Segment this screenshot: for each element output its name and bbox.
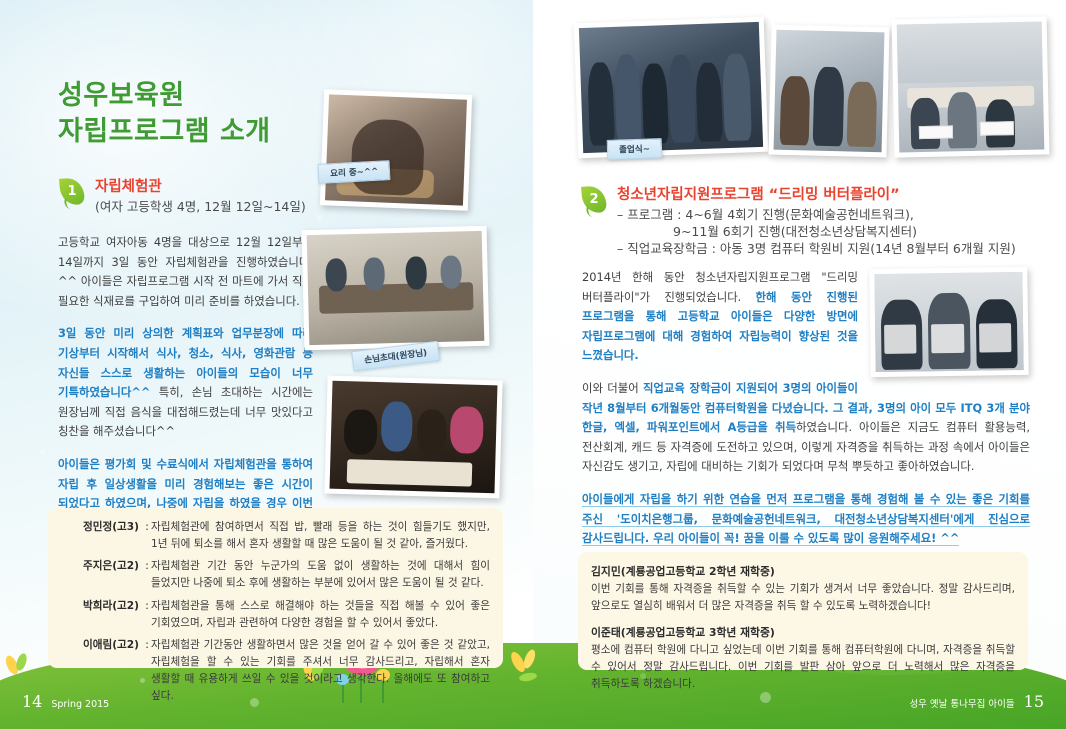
- photo-certificates-image: [874, 272, 1023, 372]
- flower-decoration-3: [505, 635, 555, 685]
- right-paragraph-2: 이와 더불어 직업교육 장학금이 지원되어 3명의 아이들이 작년 8월부터 6…: [582, 379, 1030, 477]
- right-paragraph-2-plain: 이와 더불어: [582, 381, 643, 395]
- grass-dot: [760, 692, 771, 703]
- quote-text: 자립체험관에 참여하면서 직접 밥, 빨래 등을 하는 것이 힘들기도 했지만,…: [151, 519, 490, 552]
- photo-study-image: [330, 381, 498, 494]
- quote-name: 정민정(고3): [61, 519, 143, 552]
- right-quote-box: 김지민(계룡공업고등학교 2학년 재학중) 이번 기회를 통해 자격증을 취득할…: [578, 552, 1028, 670]
- quote-row: 박희라(고2) : 자립체험관을 통해 스스로 해결해야 하는 것들을 직접 해…: [61, 598, 490, 631]
- photo-classroom: [892, 16, 1050, 157]
- photo-graduation-group-image: [579, 22, 763, 153]
- caption-graduation: 졸업식~: [607, 138, 663, 160]
- photo-cooking: [320, 89, 472, 211]
- right-float-photo-wrap: [870, 268, 1030, 376]
- flower-decoration-4: [5, 641, 49, 685]
- right-quote-text: 평소에 컴퓨터 학원에 다니고 싶었는데 이번 기회를 통해 컴퓨터학원에 다니…: [591, 642, 1015, 693]
- quote-row: 정민정(고3) : 자립체험관에 참여하면서 직접 밥, 빨래 등을 하는 것이…: [61, 519, 490, 552]
- footer-right: 성우 옛날 통나무집 아이들 15: [909, 692, 1044, 711]
- section-2-title: 청소년자립지원프로그램 “드리밍 버터플라이”: [617, 186, 1016, 204]
- right-quote-block: 김지민(계룡공업고등학교 2학년 재학중) 이번 기회를 통해 자격증을 취득할…: [591, 563, 1015, 615]
- right-quote-text: 이번 기회를 통해 자격증을 취득할 수 있는 기회가 생겨서 너무 좋았습니다…: [591, 581, 1015, 615]
- quote-separator: :: [143, 637, 151, 704]
- section-2-subtitle-line-1: – 프로그램 : 4~6월 4회기 진행(문화예술공헌네트워크),: [617, 207, 1016, 224]
- right-body-text: 2014년 한해 동안 청소년자립지원프로그램 "드리밍 버터플라이"가 진행되…: [582, 268, 1030, 549]
- right-quote-block: 이준태(계룡공업고등학교 3학년 재학중) 평소에 컴퓨터 학원에 다니고 싶었…: [591, 624, 1015, 693]
- page-number-left: 14: [22, 692, 42, 711]
- section-1-title: 자립체험관: [95, 178, 306, 196]
- right-quote-name: 이준태(계룡공업고등학교 3학년 재학중): [591, 624, 1015, 640]
- page-title-line1: 성우보육원: [58, 80, 185, 111]
- right-paragraph-3: 아이들에게 자립을 하기 위한 연습을 먼저 프로그램을 통해 경험해 볼 수 …: [582, 490, 1030, 549]
- page-title: 성우보육원 자립프로그램 소개: [58, 78, 271, 149]
- quote-text: 자립체험관을 통해 스스로 해결해야 하는 것들을 직접 해볼 수 있어 좋은 …: [151, 598, 490, 631]
- section-1-subtitle-line: (여자 고등학생 4명, 12월 12일~14일): [95, 199, 306, 216]
- section-1-subtitle: (여자 고등학생 4명, 12월 12일~14일): [95, 199, 306, 216]
- quote-separator: :: [143, 598, 151, 631]
- section-2-header: 2 청소년자립지원프로그램 “드리밍 버터플라이” – 프로그램 : 4~6월 …: [582, 186, 1032, 258]
- photo-graduation-group: [574, 17, 769, 159]
- footer-right-text: 성우 옛날 통나무집 아이들: [909, 696, 1014, 710]
- caption-cooking: 요리 중~^^: [318, 160, 391, 184]
- quote-separator: :: [143, 558, 151, 591]
- quote-name: 박희라(고2): [61, 598, 143, 631]
- quote-text: 자립체험관 기간동안 생활하면서 많은 것을 얻어 갈 수 있어 좋은 것 같았…: [151, 637, 490, 704]
- photo-group-meal-image: [307, 231, 485, 345]
- photo-classroom-image: [897, 21, 1045, 152]
- left-paragraph-2: 3일 동안 미리 상의한 계획표와 업무분장에 따라 기상부터 시작해서 식사,…: [58, 324, 313, 442]
- photo-group-meal: [302, 226, 490, 350]
- quote-row: 이애림(고2) : 자립체험관 기간동안 생활하면서 많은 것을 얻어 갈 수 …: [61, 637, 490, 704]
- section-1-header: 1 자립체험관 (여자 고등학생 4명, 12월 12일~14일): [60, 178, 340, 216]
- page-number-right: 15: [1024, 692, 1044, 711]
- left-quote-box: 정민정(고3) : 자립체험관에 참여하면서 직접 밥, 빨래 등을 하는 것이…: [48, 508, 503, 668]
- leaf-badge-icon: 1: [60, 178, 86, 208]
- footer-left-text: Spring 2015: [51, 699, 109, 710]
- photo-class-left: [768, 25, 889, 158]
- leaf-badge-icon-2: 2: [582, 186, 608, 216]
- photo-class-left-image: [774, 30, 885, 153]
- quote-name: 주지은(고2): [61, 558, 143, 591]
- right-paragraph-3-underlined: 아이들에게 자립을 하기 위한 연습을 먼저 프로그램을 통해 경험해 볼 수 …: [582, 492, 1030, 546]
- section-2-subtitle-line-3: – 직업교육장학금 : 아동 3명 컴퓨터 학원비 지원(14년 8월부터 6개…: [617, 241, 1016, 258]
- section-2-subtitle: – 프로그램 : 4~6월 4회기 진행(문화예술공헌네트워크), 9~11월 …: [617, 207, 1016, 258]
- footer-left: 14 Spring 2015: [22, 692, 109, 711]
- left-paragraph-1: 고등학교 여자아동 4명을 대상으로 12월 12일부터 14일까지 3일 동안…: [58, 233, 313, 311]
- photo-cooking-image: [325, 94, 467, 205]
- page-title-line2: 자립프로그램 소개: [58, 114, 271, 150]
- quote-text: 자립체험관 기간 동안 누군가의 도움 없이 생활하는 것에 대해서 힘이 들었…: [151, 558, 490, 591]
- right-quote-name: 김지민(계룡공업고등학교 2학년 재학중): [591, 563, 1015, 579]
- section-2-subtitle-line-2: 9~11월 6회기 진행(대전청소년상담복지센터): [617, 224, 1016, 241]
- photo-certificates: [869, 267, 1028, 377]
- magazine-spread: 성우보육원 자립프로그램 소개 1 자립체험관 (여자 고등학생 4명, 12월…: [0, 0, 1066, 729]
- quote-separator: :: [143, 519, 151, 552]
- left-body-text: 고등학교 여자아동 4명을 대상으로 12월 12일부터 14일까지 3일 동안…: [58, 233, 313, 553]
- photo-study: [324, 376, 502, 499]
- quote-row: 주지은(고2) : 자립체험관 기간 동안 누군가의 도움 없이 생활하는 것에…: [61, 558, 490, 591]
